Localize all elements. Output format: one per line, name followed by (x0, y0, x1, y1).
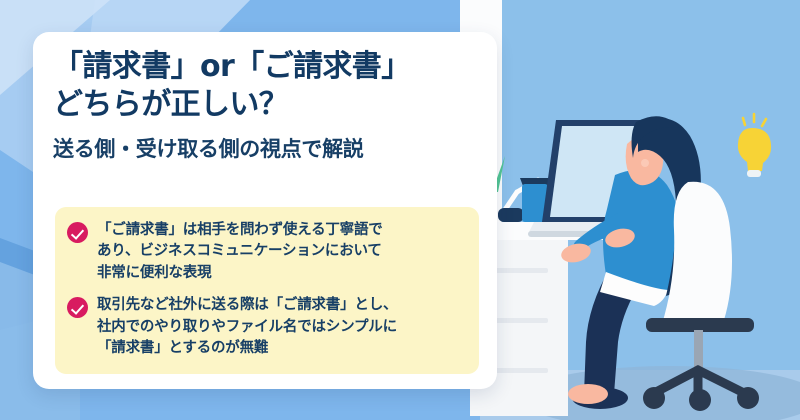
list-item: 取引先など社外に送る際は「ご請求書」とし、 社内でのやり取りやファイル名ではシン… (67, 295, 465, 359)
list-item: 「ご請求書」は相手を問わず使える丁寧語で あり、ビジネスコミュニケーションにおい… (67, 220, 465, 284)
check-circle-icon (67, 297, 88, 318)
point-line: あり、ビジネスコミュニケーションにおいて (97, 243, 382, 259)
point-line: 取引先など社外に送る際は「ご請求書」とし、 (97, 297, 397, 313)
point-text: 「ご請求書」は相手を問わず使える丁寧語で あり、ビジネスコミュニケーションにおい… (97, 220, 383, 284)
point-line: 「ご請求書」は相手を問わず使える丁寧語で (97, 222, 383, 238)
page-title-line-2: どちらが正しい？ (53, 86, 493, 124)
poster-canvas: 「請求書」or「ご請求書」 どちらが正しい？ 送る側・受け取る側の視点で解説 「… (0, 0, 800, 420)
point-line: 「請求書」とするのが無難 (97, 340, 268, 356)
title-block: 「請求書」or「ご請求書」 どちらが正しい？ 送る側・受け取る側の視点で解説 (53, 48, 493, 162)
desk-tray-icon (498, 208, 524, 222)
content-card: 「請求書」or「ご請求書」 どちらが正しい？ 送る側・受け取る側の視点で解説 「… (33, 32, 497, 389)
key-points-panel: 「ご請求書」は相手を問わず使える丁寧語で あり、ビジネスコミュニケーションにおい… (55, 207, 479, 374)
illustration-woman-working (460, 0, 800, 420)
page-subtitle: 送る側・受け取る側の視点で解説 (53, 137, 493, 162)
page-title-line-1: 「請求書」or「ご請求書」 (53, 48, 493, 86)
point-text: 取引先など社外に送る際は「ご請求書」とし、 社内でのやり取りやファイル名ではシン… (97, 295, 397, 359)
check-circle-icon (67, 222, 88, 243)
point-line: 社内でのやり取りやファイル名ではシンプルに (97, 319, 397, 335)
point-line: 非常に便利な表現 (97, 265, 211, 281)
